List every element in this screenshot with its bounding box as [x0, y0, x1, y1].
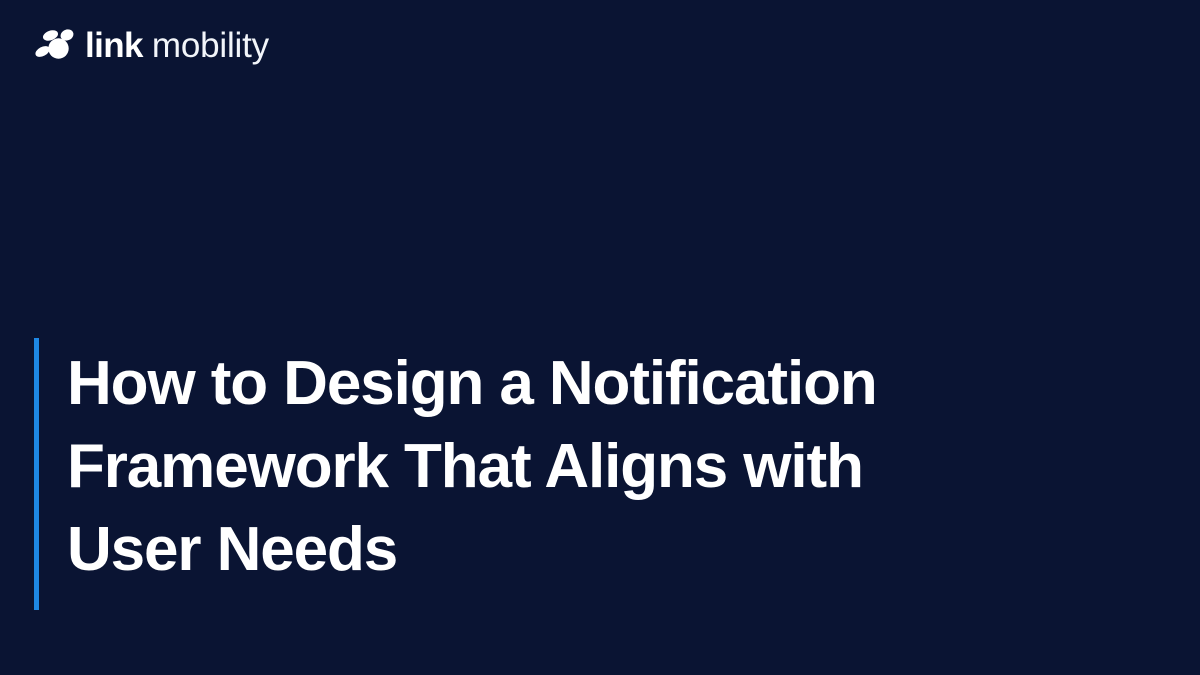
brand-name-primary: link — [85, 28, 143, 63]
brand-wordmark: link mobility — [85, 28, 269, 63]
link-mobility-logomark-icon — [34, 28, 74, 62]
page-title: How to Design a Notification Framework T… — [39, 338, 877, 610]
title-line-1: How to Design a Notification — [67, 342, 877, 425]
title-slide: link mobility How to Design a Notificati… — [0, 0, 1200, 675]
title-line-2: Framework That Aligns with — [67, 425, 877, 508]
title-line-3: User Needs — [67, 508, 877, 591]
brand-logo: link mobility — [34, 26, 269, 64]
headline-block: How to Design a Notification Framework T… — [34, 338, 994, 610]
brand-name-secondary: mobility — [152, 28, 269, 63]
